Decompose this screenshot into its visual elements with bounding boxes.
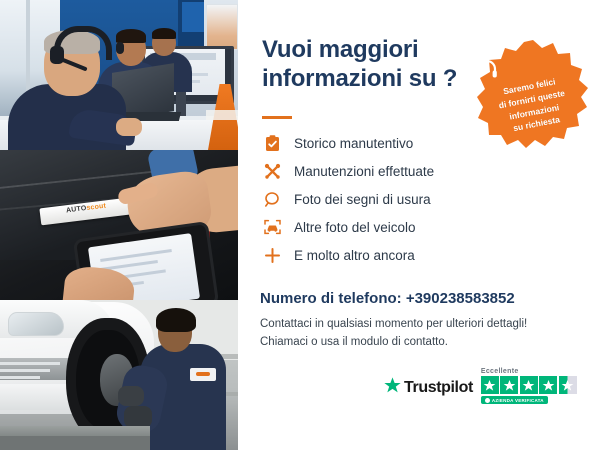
- trustpilot-star-2: [500, 376, 518, 394]
- heading-line-1: Vuoi maggiori: [262, 36, 472, 65]
- crossed-tools-icon: [260, 160, 284, 182]
- trustpilot-star-5: [559, 376, 577, 394]
- feature-item-maintenance-done[interactable]: Manutenzioni effettuate: [260, 158, 510, 184]
- photo-call-center: [0, 0, 238, 150]
- check-icon: [485, 398, 490, 403]
- trustpilot-star-3: [520, 376, 538, 394]
- trustpilot-stars: [481, 376, 577, 394]
- feature-label: Altre foto del veicolo: [294, 220, 416, 235]
- content-panel: Vuoi maggiori informazioni su ? Saremo f…: [238, 0, 600, 450]
- photo-wheel-service: [0, 300, 238, 450]
- trustpilot-brand: Trustpilot: [404, 379, 473, 397]
- trustpilot-widget[interactable]: Trustpilot Eccellente AZIENDA VERIFICATA: [384, 368, 577, 404]
- promo-banner: AUTOscout: [0, 0, 600, 450]
- page-title: Vuoi maggiori informazioni su ?: [262, 36, 472, 94]
- feature-item-wear-photos[interactable]: Foto dei segni di usura: [260, 186, 510, 212]
- contact-note-line-1: Contattaci in qualsiasi momento per ulte…: [260, 316, 580, 334]
- contact-note-line-2: Chiamaci o usa il modulo di contatto.: [260, 334, 580, 352]
- feature-label: Foto dei segni di usura: [294, 192, 431, 207]
- feature-item-maintenance-history[interactable]: Storico manutentivo: [260, 130, 510, 156]
- plus-icon: [260, 244, 284, 266]
- feature-label: Manutenzioni effettuate: [294, 164, 434, 179]
- feature-item-vehicle-photos[interactable]: Altre foto del veicolo: [260, 214, 510, 240]
- clipboard-check-icon: [260, 132, 284, 154]
- trustpilot-star-icon: [384, 377, 401, 399]
- verified-label: AZIENDA VERIFICATA: [492, 398, 544, 403]
- trustpilot-star-1: [481, 376, 499, 394]
- feature-label: E molto altro ancora: [294, 248, 415, 263]
- trustpilot-rating-label: Eccellente: [481, 368, 519, 375]
- car-focus-frame-icon: [260, 216, 284, 238]
- trustpilot-logo: Trustpilot: [384, 377, 473, 404]
- title-divider: [262, 116, 292, 119]
- feature-list: Storico manutentivo Manutenzi: [260, 130, 510, 270]
- feature-label: Storico manutentivo: [294, 136, 413, 151]
- verified-badge: AZIENDA VERIFICATA: [481, 396, 548, 404]
- phone-number[interactable]: Numero di telefono: +390238583852: [260, 290, 515, 307]
- magnifier-icon: [260, 188, 284, 210]
- contact-note: Contattaci in qualsiasi momento per ulte…: [260, 316, 580, 352]
- photo-column: AUTOscout: [0, 0, 238, 450]
- trustpilot-star-4: [539, 376, 557, 394]
- trustpilot-rating: Eccellente AZIENDA VERIFICATA: [481, 368, 577, 404]
- feature-item-more[interactable]: E molto altro ancora: [260, 242, 510, 268]
- heading-line-2: informazioni su ?: [262, 65, 472, 94]
- photo-damage-inspection: AUTOscout: [0, 150, 238, 300]
